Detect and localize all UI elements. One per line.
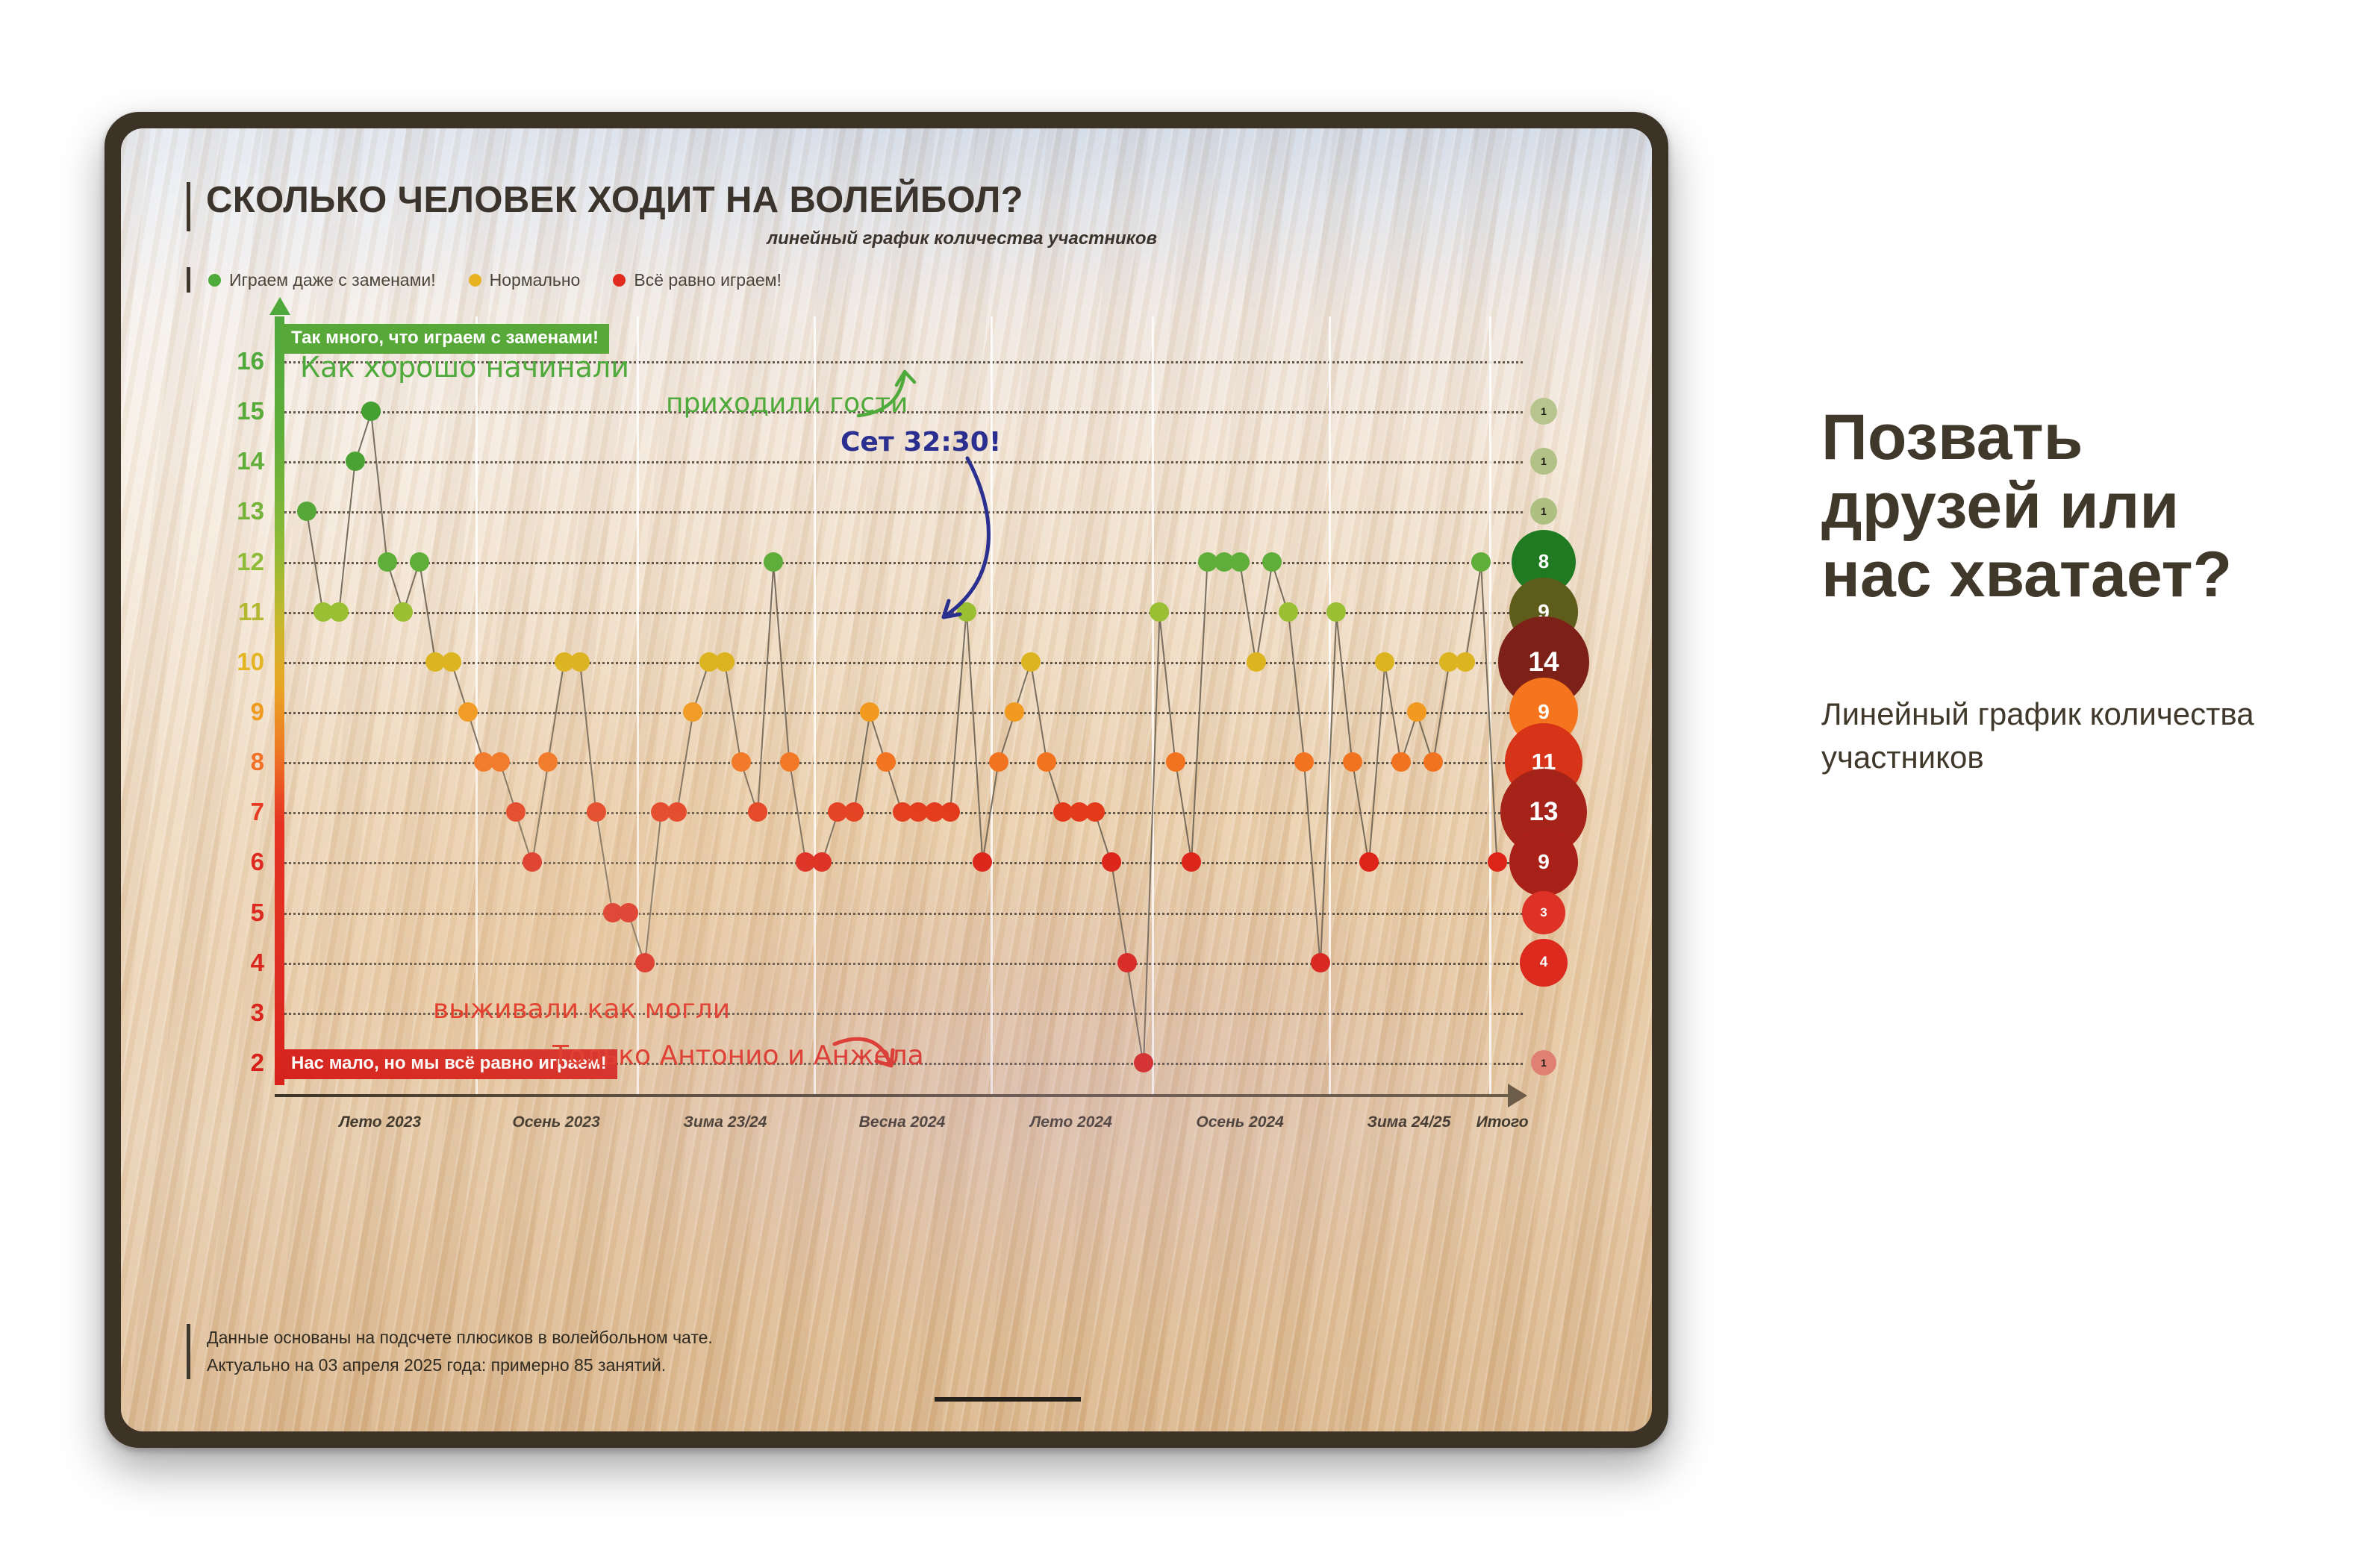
total-bubble[interactable]: 1 bbox=[1530, 398, 1557, 425]
banner-top: Так много, что играем с заменами! bbox=[281, 324, 609, 354]
y-axis-tick-label: 10 bbox=[212, 648, 264, 676]
data-point[interactable] bbox=[957, 602, 976, 622]
legend-dot-red bbox=[613, 274, 626, 287]
data-point[interactable] bbox=[1407, 702, 1426, 722]
legend-accent-rule bbox=[187, 267, 190, 293]
tablet-screen: СКОЛЬКО ЧЕЛОВЕК ХОДИТ НА ВОЛЕЙБОЛ? линей… bbox=[121, 128, 1652, 1431]
data-point[interactable] bbox=[1117, 953, 1137, 972]
data-point[interactable] bbox=[1488, 852, 1507, 872]
data-point[interactable] bbox=[523, 852, 542, 872]
grid-line bbox=[284, 511, 1523, 513]
series-segment bbox=[966, 613, 984, 863]
y-axis-tick-label: 4 bbox=[212, 949, 264, 977]
page-indicator-bar bbox=[935, 1397, 1081, 1402]
data-point[interactable] bbox=[1230, 552, 1250, 572]
right-rail: Позвать друзей или нас хватает? Линейный… bbox=[1821, 403, 2284, 779]
season-separator bbox=[1152, 316, 1154, 1094]
data-point[interactable] bbox=[876, 752, 896, 772]
series-segment bbox=[1335, 613, 1353, 763]
data-point[interactable] bbox=[973, 852, 992, 872]
data-point[interactable] bbox=[1102, 852, 1121, 872]
footnote-line-1: Данные основаны на подсчете плюсиков в в… bbox=[207, 1324, 713, 1352]
x-axis-tick-label: Осень 2023 bbox=[512, 1113, 599, 1131]
legend-label-green: Играем даже с заменами! bbox=[229, 270, 436, 290]
legend-label-red: Всё равно играем! bbox=[634, 270, 782, 290]
y-axis-tick-label: 14 bbox=[212, 447, 264, 475]
data-point[interactable] bbox=[1326, 602, 1346, 622]
data-point[interactable] bbox=[458, 702, 478, 722]
total-bubble[interactable]: 9 bbox=[1509, 828, 1578, 896]
header-accent-rule bbox=[187, 182, 190, 231]
page-title: СКОЛЬКО ЧЕЛОВЕК ХОДИТ НА ВОЛЕЙБОЛ? bbox=[187, 179, 1456, 221]
y-axis-tick-label: 9 bbox=[212, 698, 264, 726]
footnote-line-2: Актуально на 03 апреля 2025 года: пример… bbox=[207, 1352, 713, 1379]
annotation-set-32-30: Сет 32:30! bbox=[841, 427, 1001, 457]
total-bubble[interactable]: 4 bbox=[1520, 939, 1568, 987]
grid-line bbox=[284, 662, 1523, 664]
data-point[interactable] bbox=[1247, 652, 1266, 672]
series-segment bbox=[1288, 613, 1306, 763]
data-point[interactable] bbox=[410, 552, 429, 572]
y-axis-tick-label: 13 bbox=[212, 497, 264, 525]
data-point[interactable] bbox=[812, 852, 832, 872]
data-point[interactable] bbox=[941, 802, 960, 822]
slide-content: СКОЛЬКО ЧЕЛОВЕК ХОДИТ НА ВОЛЕЙБОЛ? линей… bbox=[121, 128, 1652, 1431]
rail-caption: Линейный график количества участников bbox=[1821, 693, 2284, 779]
data-point[interactable] bbox=[570, 652, 590, 672]
data-point[interactable] bbox=[667, 802, 687, 822]
data-point[interactable] bbox=[490, 752, 510, 772]
grid-line bbox=[284, 862, 1523, 864]
annotation-prihodili-gosti: приходили гости bbox=[666, 388, 908, 419]
data-point[interactable] bbox=[346, 452, 365, 471]
data-point[interactable] bbox=[715, 652, 735, 672]
footnote: Данные основаны на подсчете плюсиков в в… bbox=[187, 1324, 713, 1379]
data-point[interactable] bbox=[635, 953, 655, 972]
data-point[interactable] bbox=[1085, 802, 1105, 822]
grid-line bbox=[284, 913, 1523, 915]
series-segment bbox=[757, 563, 775, 813]
y-axis-arrow bbox=[269, 297, 290, 315]
data-point[interactable] bbox=[1456, 652, 1475, 672]
season-separator bbox=[1489, 316, 1491, 1094]
x-axis-tick-label: Зима 23/24 bbox=[683, 1113, 767, 1131]
slide-header: СКОЛЬКО ЧЕЛОВЕК ХОДИТ НА ВОЛЕЙБОЛ? линей… bbox=[187, 179, 1456, 221]
data-point[interactable] bbox=[442, 652, 461, 672]
total-bubble[interactable]: 3 bbox=[1522, 891, 1565, 934]
x-axis-tick-label: Лето 2024 bbox=[1030, 1113, 1112, 1131]
data-point[interactable] bbox=[1423, 752, 1443, 772]
total-bubble[interactable]: 1 bbox=[1530, 448, 1557, 475]
chart-legend: Играем даже с заменами! Нормально Всё ра… bbox=[187, 267, 814, 293]
data-point[interactable] bbox=[1037, 752, 1056, 772]
legend-item-yellow: Нормально bbox=[469, 270, 581, 290]
y-axis-gradient-bar bbox=[275, 316, 284, 1085]
line-chart: 1615141312111098765432 Лето 2023Осень 20… bbox=[187, 316, 1586, 1287]
x-axis-tick-label: Зима 24/25 bbox=[1367, 1113, 1450, 1131]
data-point[interactable] bbox=[587, 802, 606, 822]
annotation-kak-horosho: Как хорошо начинали bbox=[300, 351, 629, 384]
data-point[interactable] bbox=[989, 752, 1008, 772]
series-segment bbox=[370, 412, 388, 563]
legend-item-red: Всё равно играем! bbox=[613, 270, 782, 290]
rail-headline: Позвать друзей или нас хватает? bbox=[1821, 403, 2284, 609]
data-point[interactable] bbox=[683, 702, 702, 722]
season-separator bbox=[1329, 316, 1331, 1094]
data-point[interactable] bbox=[506, 802, 526, 822]
data-point[interactable] bbox=[1166, 752, 1185, 772]
x-axis-arrow bbox=[1508, 1084, 1527, 1108]
grid-line bbox=[284, 562, 1523, 564]
x-axis-tick-label: Весна 2024 bbox=[859, 1113, 946, 1131]
series-segment bbox=[644, 813, 662, 963]
y-axis-tick-label: 16 bbox=[212, 347, 264, 375]
data-point[interactable] bbox=[361, 402, 381, 421]
data-point[interactable] bbox=[1471, 552, 1491, 572]
y-axis-tick-label: 8 bbox=[212, 748, 264, 776]
data-point[interactable] bbox=[1262, 552, 1282, 572]
season-separator bbox=[814, 316, 816, 1094]
data-point[interactable] bbox=[1005, 702, 1024, 722]
data-point[interactable] bbox=[1391, 752, 1411, 772]
grid-line bbox=[284, 963, 1523, 965]
total-bubble[interactable]: 1 bbox=[1530, 498, 1557, 525]
annotation-antonio-anzhela: Только Антонио и Анжела bbox=[552, 1040, 924, 1071]
data-point[interactable] bbox=[1182, 852, 1201, 872]
grid-line bbox=[284, 762, 1523, 764]
data-point[interactable] bbox=[329, 602, 349, 622]
series-segment bbox=[579, 663, 597, 813]
y-axis-tick-label: 6 bbox=[212, 848, 264, 876]
data-point[interactable] bbox=[780, 752, 799, 772]
footnote-lines: Данные основаны на подсчете плюсиков в в… bbox=[207, 1324, 713, 1379]
grid-line bbox=[284, 461, 1523, 463]
x-axis-tick-label: Осень 2024 bbox=[1196, 1113, 1283, 1131]
data-point[interactable] bbox=[860, 702, 879, 722]
legend-label-yellow: Нормально bbox=[490, 270, 581, 290]
total-bubble[interactable]: 1 bbox=[1531, 1050, 1556, 1075]
series-segment bbox=[338, 462, 356, 613]
page-subtitle: линейный график количества участников bbox=[187, 228, 1157, 249]
y-axis-tick-label: 3 bbox=[212, 999, 264, 1027]
y-axis-tick-label: 15 bbox=[212, 397, 264, 425]
data-point[interactable] bbox=[844, 802, 864, 822]
data-point[interactable] bbox=[1294, 752, 1314, 772]
y-axis-tick-label: 2 bbox=[212, 1049, 264, 1077]
x-axis-line bbox=[275, 1094, 1514, 1097]
legend-item-green: Играем даже с заменами! bbox=[208, 270, 436, 290]
data-point[interactable] bbox=[538, 752, 558, 772]
data-point[interactable] bbox=[748, 802, 767, 822]
data-point[interactable] bbox=[1359, 852, 1379, 872]
data-point[interactable] bbox=[1134, 1053, 1153, 1072]
season-separator bbox=[475, 316, 478, 1094]
annotation-vyzhivali: выживали как могли bbox=[433, 994, 730, 1025]
tablet-frame: СКОЛЬКО ЧЕЛОВЕК ХОДИТ НА ВОЛЕЙБОЛ? линей… bbox=[105, 112, 1668, 1448]
data-point[interactable] bbox=[1343, 752, 1362, 772]
series-segment bbox=[1159, 613, 1176, 763]
data-point[interactable] bbox=[1311, 953, 1330, 972]
y-axis-tick-label: 5 bbox=[212, 899, 264, 927]
data-point[interactable] bbox=[378, 552, 397, 572]
legend-dot-green bbox=[208, 274, 221, 287]
data-point[interactable] bbox=[1375, 652, 1394, 672]
season-separator bbox=[637, 316, 639, 1094]
data-point[interactable] bbox=[297, 502, 316, 521]
data-point[interactable] bbox=[1279, 602, 1298, 622]
y-axis-tick-label: 7 bbox=[212, 798, 264, 826]
y-axis-tick-label: 12 bbox=[212, 548, 264, 576]
x-axis-tick-label: Лето 2023 bbox=[339, 1113, 421, 1131]
data-point[interactable] bbox=[393, 602, 413, 622]
footnote-accent-rule bbox=[187, 1324, 190, 1379]
data-point[interactable] bbox=[764, 552, 783, 572]
data-point[interactable] bbox=[1021, 652, 1041, 672]
y-axis-tick-label: 11 bbox=[212, 598, 264, 626]
data-point[interactable] bbox=[619, 903, 638, 922]
data-point[interactable] bbox=[732, 752, 751, 772]
x-axis-tick-label: Итого bbox=[1476, 1113, 1529, 1131]
data-point[interactable] bbox=[1150, 602, 1169, 622]
legend-dot-yellow bbox=[469, 274, 481, 287]
